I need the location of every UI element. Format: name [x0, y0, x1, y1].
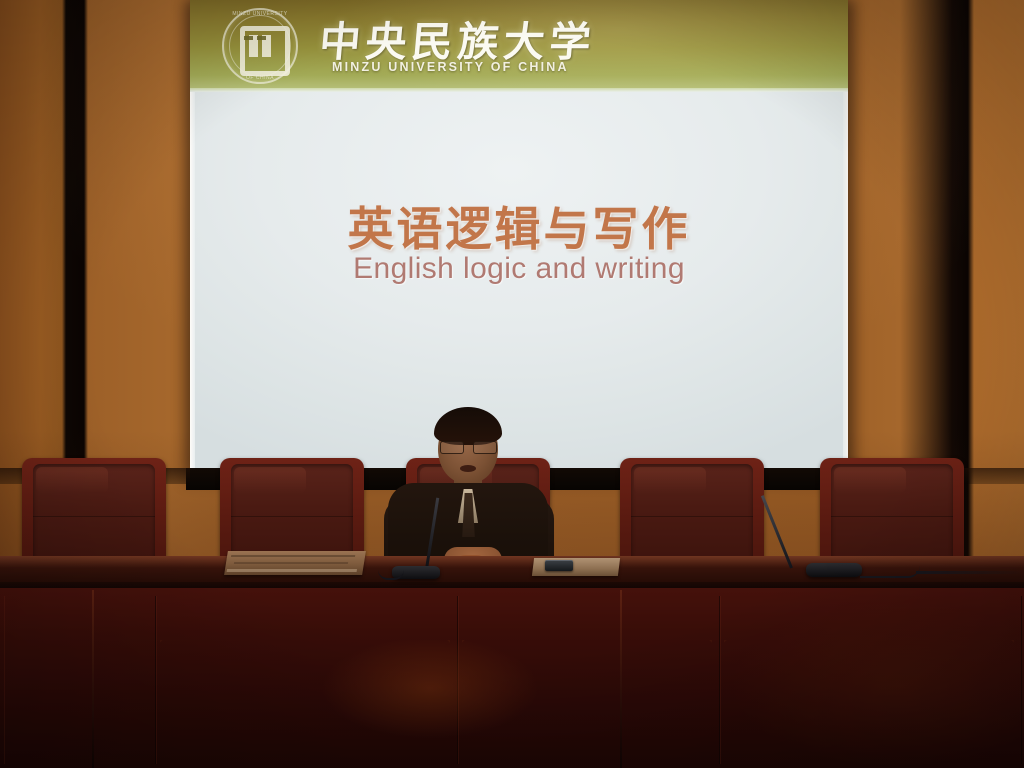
table-warm-light-patch-right	[600, 600, 1024, 768]
chair-highlight	[234, 467, 306, 493]
chair-seam	[33, 516, 155, 517]
slide-title-en: English logic and writing	[190, 252, 848, 286]
university-name-en: MINZU UNIVERSITY OF CHINA	[332, 60, 569, 74]
eyeglasses-icon	[440, 441, 497, 452]
slide-title-cn: 英语逻辑与写作	[190, 193, 848, 259]
newspaper-fold-line	[234, 562, 348, 564]
projection-screen: MINZU UNIVERSITY OF CHINA 中央民族大学 MINZU U…	[190, 0, 848, 472]
slide-header-band: MINZU UNIVERSITY OF CHINA 中央民族大学 MINZU U…	[190, 0, 848, 92]
chair-seam	[231, 516, 353, 517]
chair-seam	[831, 516, 953, 517]
chair-highlight	[834, 467, 906, 493]
newspaper-edge	[227, 569, 357, 572]
lecture-photo-scene: MINZU UNIVERSITY OF CHINA 中央民族大学 MINZU U…	[0, 0, 1024, 768]
university-name-cn: 中央民族大学	[317, 8, 598, 68]
gooseneck-microphone-right	[806, 563, 862, 577]
minzu-university-seal-icon: MINZU UNIVERSITY OF CHINA	[220, 6, 300, 86]
table-warm-light-patch	[300, 640, 560, 760]
seal-glyph	[240, 26, 290, 76]
table-panel-seam	[92, 590, 94, 768]
chair-seam	[631, 516, 753, 517]
newspaper-fold-line	[231, 555, 355, 557]
microphone-cable-right	[860, 566, 920, 578]
seal-glyph-bar-right	[257, 36, 266, 40]
chair-highlight	[634, 467, 706, 493]
speaker-hair	[434, 407, 502, 445]
mobile-phone	[545, 560, 573, 571]
chair-highlight	[36, 467, 108, 493]
seated-speaker	[384, 405, 554, 580]
speaker-mouth	[460, 465, 476, 472]
stacked-newspapers	[224, 551, 366, 575]
microphone-cable-right-run	[916, 571, 1024, 574]
slide-header-bottom-rule	[190, 88, 848, 92]
seal-text-top: MINZU UNIVERSITY	[220, 11, 300, 17]
seal-glyph-bar-left	[244, 36, 253, 40]
table-panel-segment	[4, 596, 156, 764]
